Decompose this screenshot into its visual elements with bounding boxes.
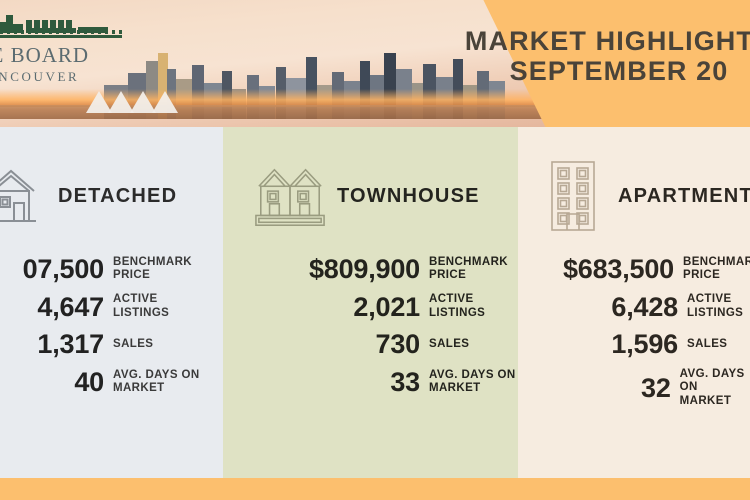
stat-label: BENCHMARK PRICE [429, 256, 508, 283]
stat-value: 40 [0, 368, 104, 397]
stat-row: 6,428 ACTIVE LISTINGS [530, 293, 750, 322]
stat-row: $809,900 BENCHMARK PRICE [245, 255, 540, 284]
panel-apartment-header: APARTMENT [542, 157, 750, 235]
stat-value: 33 [245, 368, 420, 397]
stat-row: 730 SALES [245, 330, 540, 359]
stat-row: 1,596 SALES [530, 330, 750, 359]
logo-skyline-icon [0, 8, 128, 42]
footer-accent-bar [0, 478, 750, 500]
logo-text-line-1: STATE BOARD [0, 43, 128, 68]
stat-label: SALES [113, 338, 153, 352]
stat-value: 6,428 [530, 293, 678, 322]
header-title-block: MARKET HIGHLIGHTS SEPTEMBER 20 [454, 26, 750, 86]
panel-detached: DETACHED 07,500 BENCHMARK PRICE 4,647 AC… [0, 127, 223, 478]
stat-label: ACTIVE LISTINGS [429, 293, 485, 320]
header-title-line-2: SEPTEMBER 20 [454, 56, 750, 86]
header-title-line-1: MARKET HIGHLIGHTS [454, 26, 750, 56]
infographic-canvas: MARKET HIGHLIGHTS SEPTEMBER 20 [0, 0, 750, 500]
stat-label: BENCHMARK PRICE [113, 256, 192, 283]
stat-row: 4,647 ACTIVE LISTINGS [0, 293, 217, 322]
stat-value: 730 [245, 330, 420, 359]
panel-apartment-title: APARTMENT [618, 185, 750, 208]
stat-panels: DETACHED 07,500 BENCHMARK PRICE 4,647 AC… [0, 127, 750, 478]
panel-townhouse-header: TOWNHOUSE [253, 157, 480, 235]
stat-row: 33 AVG. DAYS ON MARKET [245, 368, 540, 397]
stat-value: 4,647 [0, 293, 104, 322]
stat-value: 2,021 [245, 293, 420, 322]
stat-row: $683,500 BENCHMARK PRICE [530, 255, 750, 284]
stat-row: 40 AVG. DAYS ON MARKET [0, 368, 217, 397]
stat-value: 07,500 [0, 255, 104, 284]
stat-label: ACTIVE LISTINGS [687, 293, 743, 320]
detached-house-icon [0, 157, 48, 235]
apartment-building-icon [542, 157, 604, 235]
panel-townhouse-title: TOWNHOUSE [337, 185, 480, 208]
stat-row: 32 AVG. DAYS ON MARKET [530, 368, 750, 409]
townhouse-icon [253, 157, 327, 235]
panel-apartment: APARTMENT $683,500 BENCHMARK PRICE 6,428… [518, 127, 750, 478]
panel-apartment-stats: $683,500 BENCHMARK PRICE 6,428 ACTIVE LI… [530, 255, 750, 418]
panel-detached-header: DETACHED [0, 157, 177, 235]
logo-text-line-2: TER VANCOUVER [0, 69, 128, 85]
panel-detached-stats: 07,500 BENCHMARK PRICE 4,647 ACTIVE LIST… [0, 255, 217, 405]
panel-townhouse: TOWNHOUSE $809,900 BENCHMARK PRICE 2,021… [223, 127, 518, 478]
stat-row: 1,317 SALES [0, 330, 217, 359]
stat-value: $809,900 [245, 255, 420, 284]
real-estate-board-logo[interactable]: STATE BOARD TER VANCOUVER [0, 8, 128, 85]
stat-label: BENCHMARK PRICE [683, 256, 750, 283]
panel-townhouse-stats: $809,900 BENCHMARK PRICE 2,021 ACTIVE LI… [245, 255, 540, 405]
stat-label: SALES [687, 338, 727, 352]
panel-detached-title: DETACHED [58, 185, 177, 208]
stat-label: AVG. DAYS ON MARKET [680, 368, 750, 409]
stat-row: 07,500 BENCHMARK PRICE [0, 255, 217, 284]
header-banner: MARKET HIGHLIGHTS SEPTEMBER 20 [0, 0, 750, 127]
stat-value: 1,317 [0, 330, 104, 359]
stat-label: ACTIVE LISTINGS [113, 293, 169, 320]
stat-value: 1,596 [530, 330, 678, 359]
stat-row: 2,021 ACTIVE LISTINGS [245, 293, 540, 322]
stat-label: AVG. DAYS ON MARKET [113, 369, 200, 396]
stat-value: 32 [530, 374, 671, 403]
canada-place-sails-icon [86, 87, 196, 113]
stat-label: AVG. DAYS ON MARKET [429, 369, 516, 396]
stat-value: $683,500 [530, 255, 674, 284]
stat-label: SALES [429, 338, 469, 352]
